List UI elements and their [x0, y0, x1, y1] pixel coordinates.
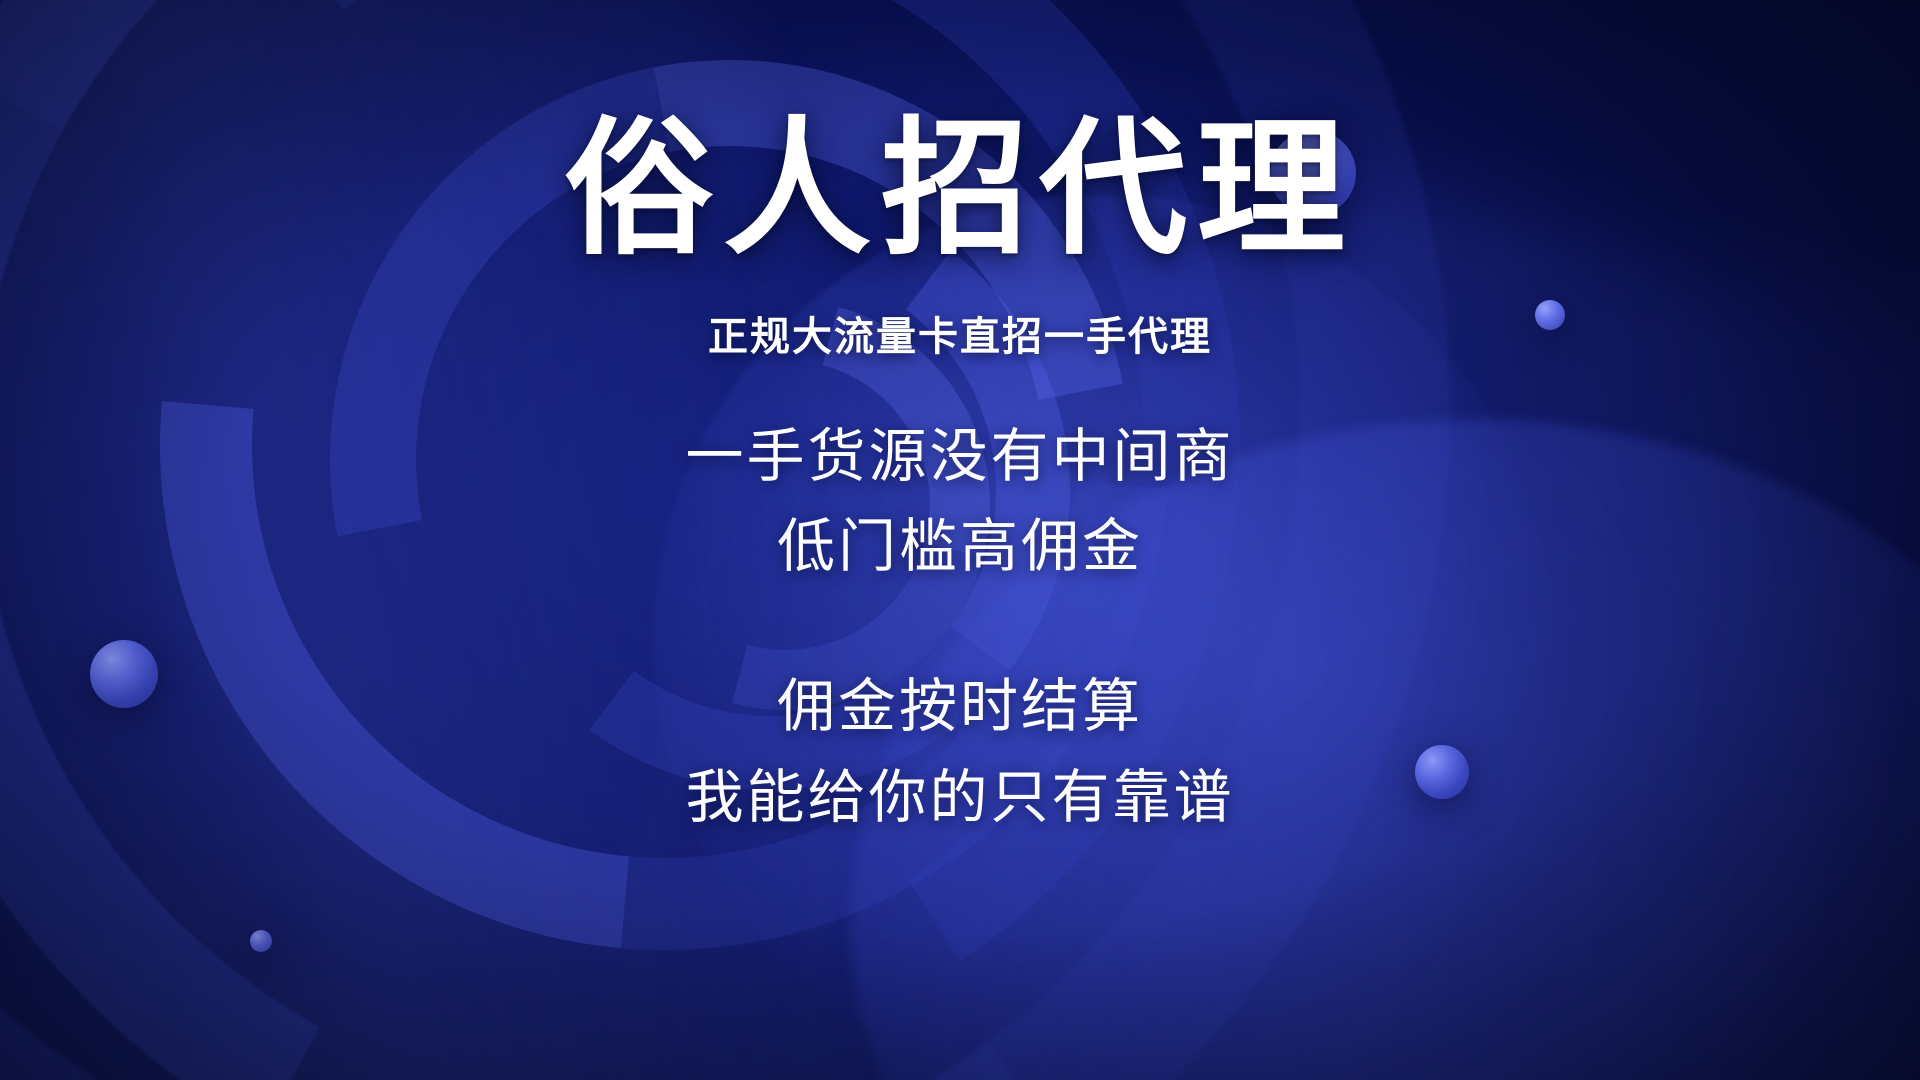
- benefit-line: 我能给你的只有靠谱: [685, 761, 1234, 835]
- benefit-block-2: 佣金按时结算 我能给你的只有靠谱: [685, 670, 1234, 834]
- benefit-line: 一手货源没有中间商: [685, 420, 1234, 494]
- benefit-line: 佣金按时结算: [685, 670, 1234, 744]
- promo-poster: 俗人招代理 正规大流量卡直招一手代理 一手货源没有中间商 低门槛高佣金 佣金按时…: [0, 0, 1920, 1080]
- poster-subtitle: 正规大流量卡直招一手代理: [708, 304, 1212, 362]
- benefit-block-1: 一手货源没有中间商 低门槛高佣金: [685, 420, 1234, 584]
- poster-content: 俗人招代理 正规大流量卡直招一手代理 一手货源没有中间商 低门槛高佣金 佣金按时…: [0, 0, 1920, 1080]
- poster-title: 俗人招代理: [565, 116, 1355, 264]
- benefit-line: 低门槛高佣金: [685, 510, 1234, 584]
